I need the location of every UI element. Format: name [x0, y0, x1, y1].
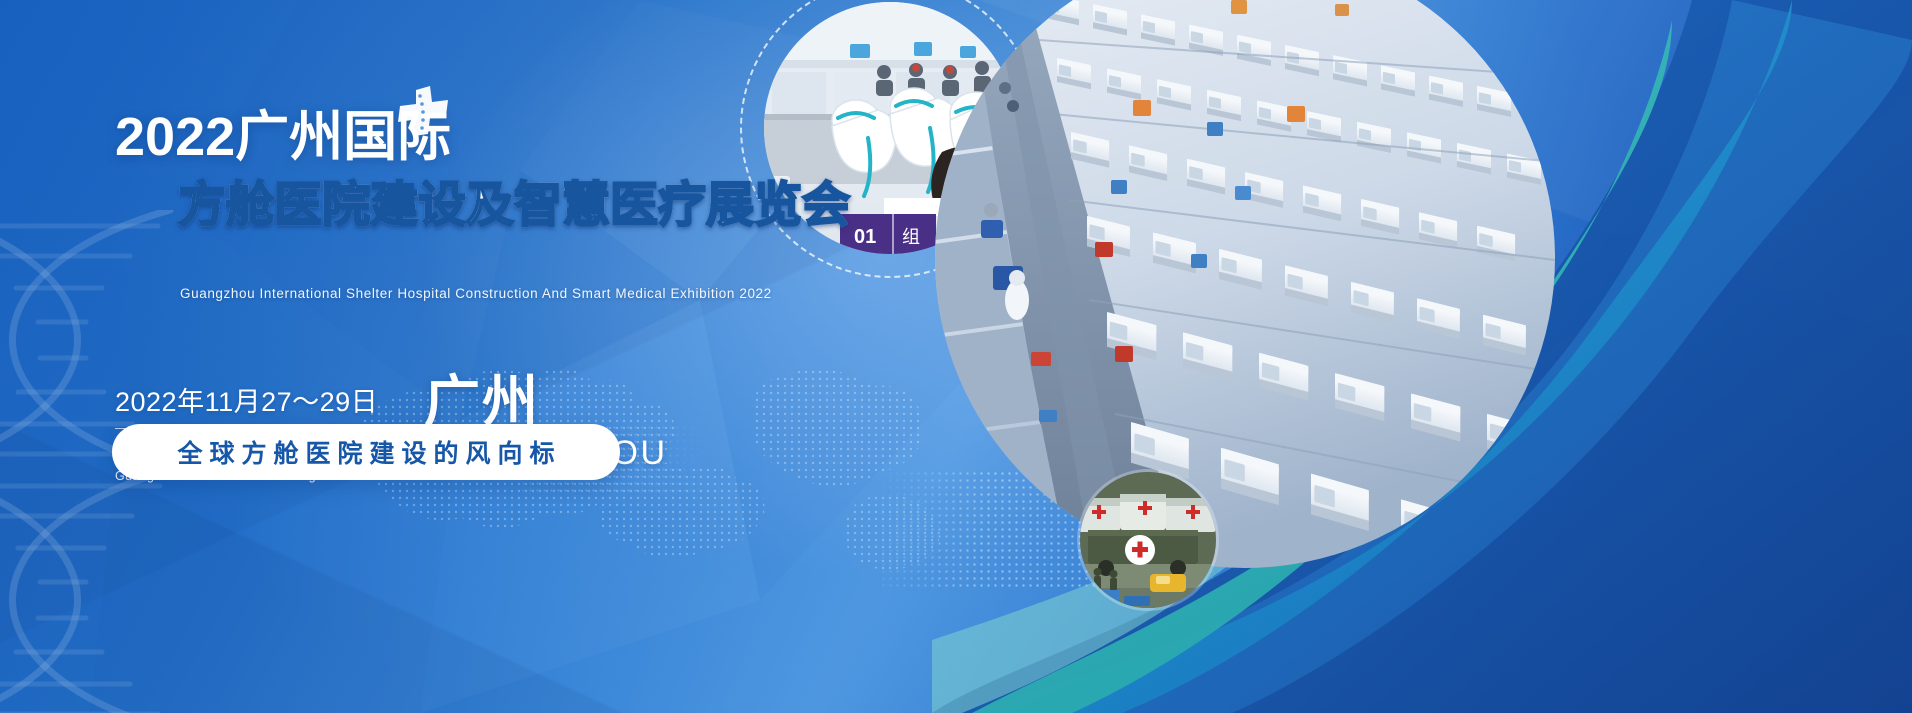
city-name-cn: 广州	[424, 374, 668, 430]
slogan-pill[interactable]: 全球方舱医院建设的风向标	[112, 424, 620, 480]
title-line-2: 方舱医院建设及智慧医疗展览会	[178, 182, 850, 230]
mobile-medical-vehicles-photo	[1080, 472, 1216, 608]
photo-sign-label-group: 组	[902, 227, 920, 248]
event-banner: 01 组	[0, 0, 1912, 713]
event-date: 2022年11月27～29日	[115, 380, 375, 419]
subtitle-english: Guangzhou International Shelter Hospital…	[180, 286, 772, 301]
slogan-text: 全球方舱医院建设的风向标	[170, 434, 561, 470]
banner-text-content: 2022广州国际 方舱医院建设及智慧医疗展览会 Guangzhou Intern…	[0, 0, 860, 713]
medical-cross-icon	[396, 86, 452, 142]
